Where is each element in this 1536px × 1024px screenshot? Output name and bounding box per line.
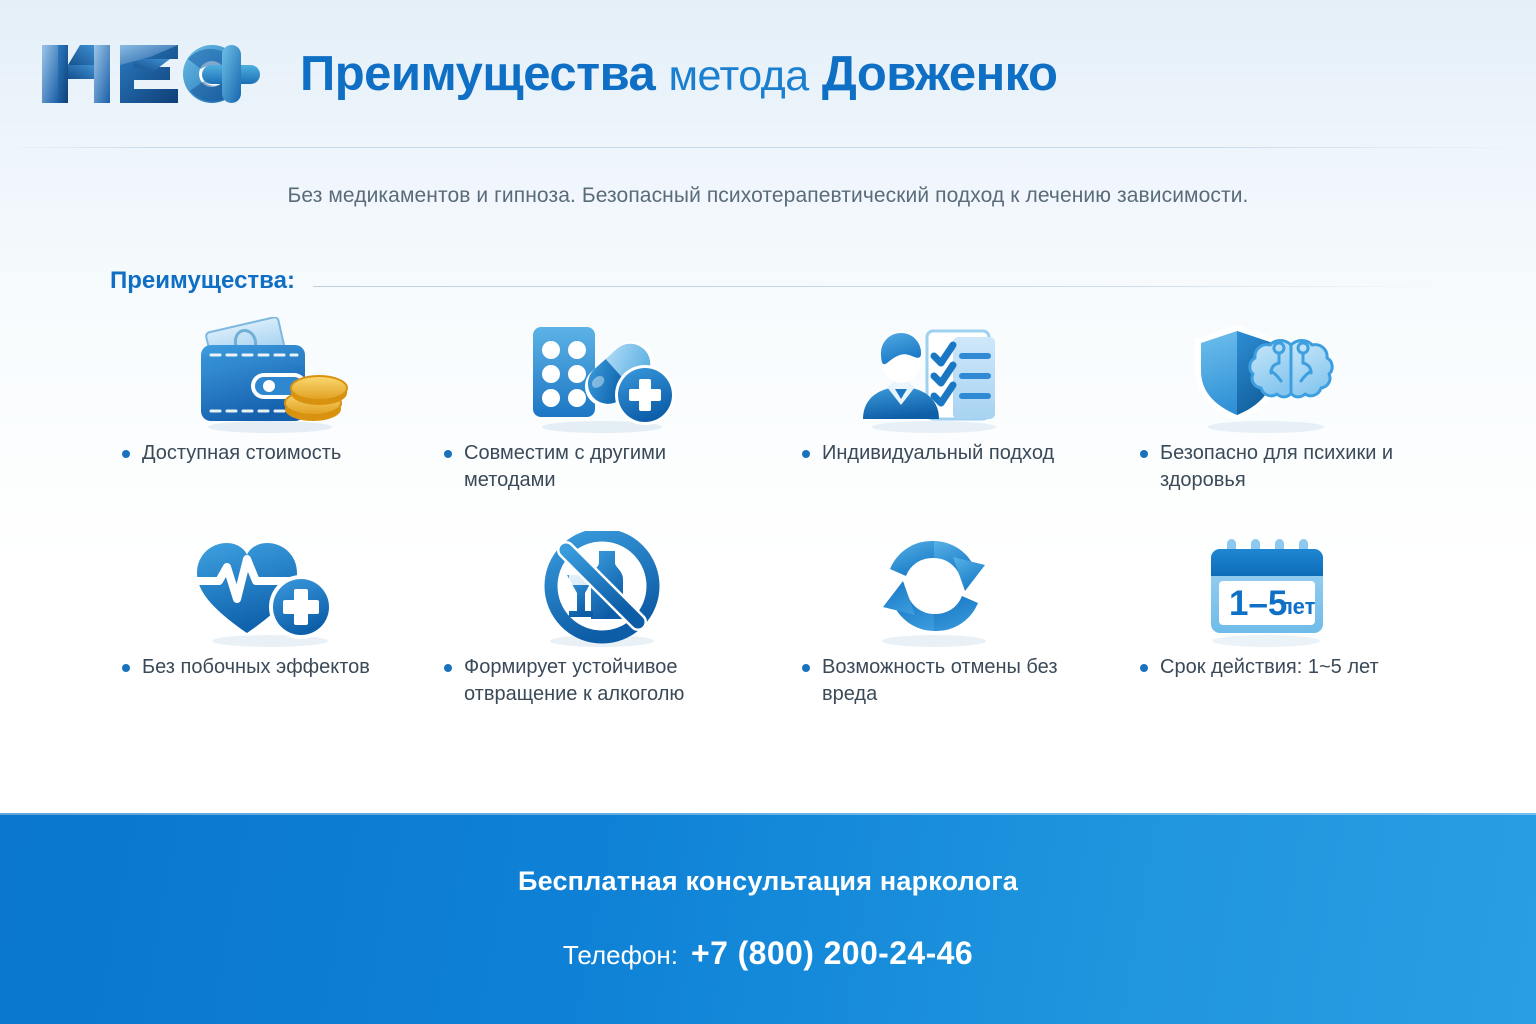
phone-number[interactable]: +7 (800) 200-24-46 — [691, 935, 973, 972]
benefit-label-row: Без побочных эффектов — [104, 654, 436, 681]
page-header: Преимущества метода Довженко — [0, 0, 1536, 148]
infographic-page: Преимущества метода Довженко Без медикам… — [0, 0, 1536, 1024]
benefit-label: Совместим с другими методами — [464, 440, 734, 494]
benefit-label: Доступная стоимость — [142, 440, 341, 467]
benefit-label: Срок действия: 1~5 лет — [1160, 654, 1379, 681]
neo-plus-logo — [38, 35, 274, 113]
benefit-label: Возможность отмены без вреда — [822, 654, 1092, 708]
calendar-years-icon: 1–5 лет — [1100, 526, 1432, 654]
benefit-label: Индивидуальный подход — [822, 440, 1054, 467]
benefit-item[interactable]: Индивидуальный подход — [768, 312, 1100, 526]
footer-headline: Бесплатная консультация нарколога — [518, 866, 1018, 897]
pills-capsule-cross-icon — [436, 312, 768, 440]
benefit-label-row: Срок действия: 1~5 лет — [1100, 654, 1432, 681]
bullet-icon — [122, 664, 130, 672]
title-part-1: Преимущества — [300, 47, 655, 101]
footer-phone-row[interactable]: Телефон: +7 (800) 200-24-46 — [563, 935, 973, 972]
benefits-grid: Доступная стоимость — [104, 312, 1434, 740]
benefit-label-row: Доступная стоимость — [104, 440, 436, 467]
benefit-item[interactable]: Без побочных эффектов — [104, 526, 436, 740]
subtitle-text: Без медикаментов и гипноза. Безопасный п… — [288, 184, 1249, 208]
benefit-label-row: Безопасно для психики и здоровья — [1100, 440, 1432, 494]
heart-pulse-cross-icon — [104, 526, 436, 654]
benefit-item[interactable]: Формирует устойчивое отвращение к алкого… — [436, 526, 768, 740]
calendar-badge-unit: лет — [1279, 594, 1316, 619]
benefit-item[interactable]: 1–5 лет Срок действия: 1~5 лет — [1100, 526, 1432, 740]
title-part-2: метода — [668, 52, 808, 100]
shield-brain-icon — [1100, 312, 1432, 440]
bullet-icon — [444, 450, 452, 458]
benefit-label-row: Формирует устойчивое отвращение к алкого… — [436, 654, 768, 708]
benefits-heading: Преимущества: — [110, 267, 295, 295]
subtitle-band: Без медикаментов и гипноза. Безопасный п… — [0, 148, 1536, 244]
benefit-label-row: Совместим с другими методами — [436, 440, 768, 494]
bullet-icon — [802, 664, 810, 672]
no-alcohol-icon — [436, 526, 768, 654]
bullet-icon — [1140, 664, 1148, 672]
bullet-icon — [1140, 450, 1148, 458]
page-title: Преимущества метода Довженко — [300, 50, 1057, 99]
benefit-item[interactable]: Безопасно для психики и здоровья — [1100, 312, 1432, 526]
benefit-item[interactable]: Доступная стоимость — [104, 312, 436, 526]
benefit-item[interactable]: Совместим с другими методами — [436, 312, 768, 526]
contact-footer: Бесплатная консультация нарколога Телефо… — [0, 813, 1536, 1024]
benefits-section-header: Преимущества: — [110, 258, 1440, 304]
phone-label: Телефон: — [563, 940, 678, 971]
bullet-icon — [444, 664, 452, 672]
benefit-label: Формирует устойчивое отвращение к алкого… — [464, 654, 734, 708]
benefit-label-row: Индивидуальный подход — [768, 440, 1100, 467]
title-part-3: Довженко — [822, 47, 1058, 101]
wallet-coins-icon — [104, 312, 436, 440]
benefit-label: Без побочных эффектов — [142, 654, 370, 681]
refresh-arrows-icon — [768, 526, 1100, 654]
bullet-icon — [122, 450, 130, 458]
bullet-icon — [802, 450, 810, 458]
section-divider — [313, 286, 1440, 287]
benefit-label: Безопасно для психики и здоровья — [1160, 440, 1430, 494]
doctor-clipboard-icon — [768, 312, 1100, 440]
benefit-label-row: Возможность отмены без вреда — [768, 654, 1100, 708]
benefit-item[interactable]: Возможность отмены без вреда — [768, 526, 1100, 740]
